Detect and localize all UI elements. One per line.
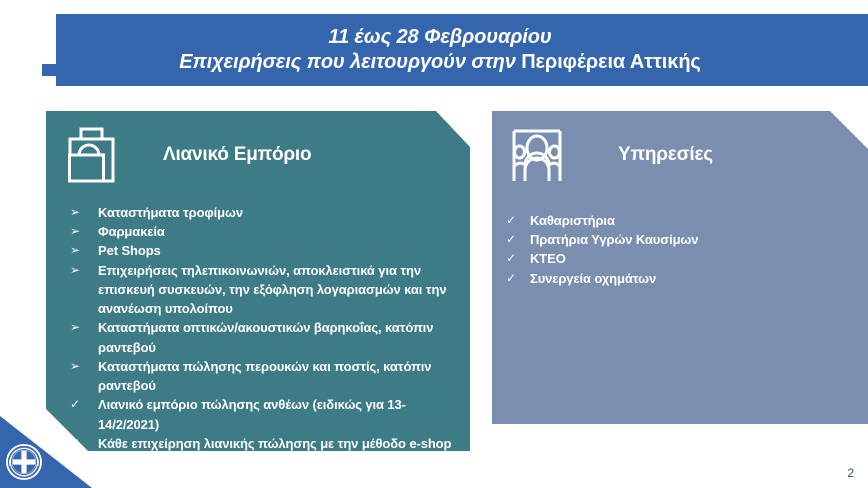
- hellenic-republic-emblem: [5, 443, 43, 481]
- services-bullet-list: ✓Καθαριστήρια ✓Πρατήρια Υγρών Καυσίμων ✓…: [492, 211, 868, 288]
- check-marker-icon: ✓: [70, 434, 98, 453]
- list-item: ✓ΚΤΕΟ: [506, 249, 868, 268]
- list-item: ➢Pet Shops: [70, 241, 464, 260]
- list-item-label: Φαρμακεία: [98, 222, 464, 241]
- list-item: ✓Πρατήρια Υγρών Καυσίμων: [506, 230, 868, 249]
- header-subtitle-italic: Επιχειρήσεις που λειτουργούν στην: [179, 51, 521, 73]
- header-subtitle-region: Περιφέρεια Αττικής: [521, 51, 701, 73]
- list-item: ➢Φαρμακεία: [70, 222, 464, 241]
- list-item-label: ΚΤΕΟ: [530, 249, 868, 268]
- check-marker-icon: ✓: [506, 249, 530, 268]
- retail-bullet-list: ➢Καταστήματα τροφίμων ➢Φαρμακεία ➢Pet Sh…: [46, 203, 470, 453]
- list-item: ➢ Καταστήματα οπτικών/ακουστικών βαρηκοΐ…: [70, 318, 464, 356]
- bullet-marker-icon: ➢: [70, 222, 98, 241]
- list-item: ➢Καταστήματα πώλησης περουκών και ποστίς…: [70, 357, 464, 395]
- list-item-label: Συνεργεία οχημάτων: [530, 269, 868, 288]
- header-banner: 11 έως 28 Φεβρουαρίου Επιχειρήσεις που λ…: [42, 14, 868, 86]
- list-item-label: Καταστήματα οπτικών/ακουστικών βαρηκοΐας…: [98, 318, 464, 356]
- list-item-label: Καταστήματα πώλησης περουκών και ποστίς,…: [98, 357, 464, 395]
- bullet-marker-icon: ➢: [70, 357, 98, 376]
- services-panel: Υπηρεσίες ✓Καθαριστήρια ✓Πρατήρια Υγρών …: [492, 111, 868, 424]
- retail-panel-header: Λιανικό Εμπόριο: [46, 111, 470, 188]
- list-item-label: Κάθε επιχείρηση λιανικής πώλησης με την …: [98, 434, 464, 453]
- check-marker-icon: ✓: [506, 211, 530, 230]
- list-item-label: Πρατήρια Υγρών Καυσίμων: [530, 230, 868, 249]
- people-group-icon: [504, 122, 570, 188]
- list-item-label: Λιανικό εμπόριο πώλησης ανθέων (ειδικώς …: [98, 395, 464, 433]
- check-marker-icon: ✓: [506, 230, 530, 249]
- check-marker-icon: ✓: [70, 395, 98, 414]
- services-panel-header: Υπηρεσίες: [492, 111, 868, 188]
- list-item: ✓Λιανικό εμπόριο πώλησης ανθέων (ειδικώς…: [70, 395, 464, 433]
- header-subtitle: Επιχειρήσεις που λειτουργούν στην Περιφέ…: [179, 50, 701, 75]
- retail-panel-title: Λιανικό Εμπόριο: [163, 144, 311, 166]
- page-number: 2: [847, 466, 854, 480]
- list-item: ➢Επιχειρήσεις τηλεπικοινωνιών, αποκλειστ…: [70, 261, 464, 319]
- bullet-marker-icon: ➢: [70, 318, 98, 337]
- shopping-bags-icon: [60, 122, 126, 188]
- list-item: ✓Καθαριστήρια: [506, 211, 868, 230]
- bullet-marker-icon: ➢: [70, 241, 98, 260]
- check-marker-icon: ✓: [506, 269, 530, 288]
- bullet-marker-icon: ➢: [70, 261, 98, 280]
- list-item-label: Καταστήματα τροφίμων: [98, 203, 464, 222]
- services-panel-title: Υπηρεσίες: [618, 144, 713, 166]
- list-item-label: Pet Shops: [98, 241, 464, 260]
- bullet-marker-icon: ➢: [70, 203, 98, 222]
- retail-panel: Λιανικό Εμπόριο ➢Καταστήματα τροφίμων ➢Φ…: [46, 111, 470, 451]
- list-item: ➢Καταστήματα τροφίμων: [70, 203, 464, 222]
- list-item-label: Επιχειρήσεις τηλεπικοινωνιών, αποκλειστι…: [98, 261, 464, 319]
- list-item: ✓Κάθε επιχείρηση λιανικής πώλησης με την…: [70, 434, 464, 453]
- list-item: ✓Συνεργεία οχημάτων: [506, 269, 868, 288]
- list-item-label: Καθαριστήρια: [530, 211, 868, 230]
- header-date-range: 11 έως 28 Φεβρουαρίου: [328, 25, 551, 50]
